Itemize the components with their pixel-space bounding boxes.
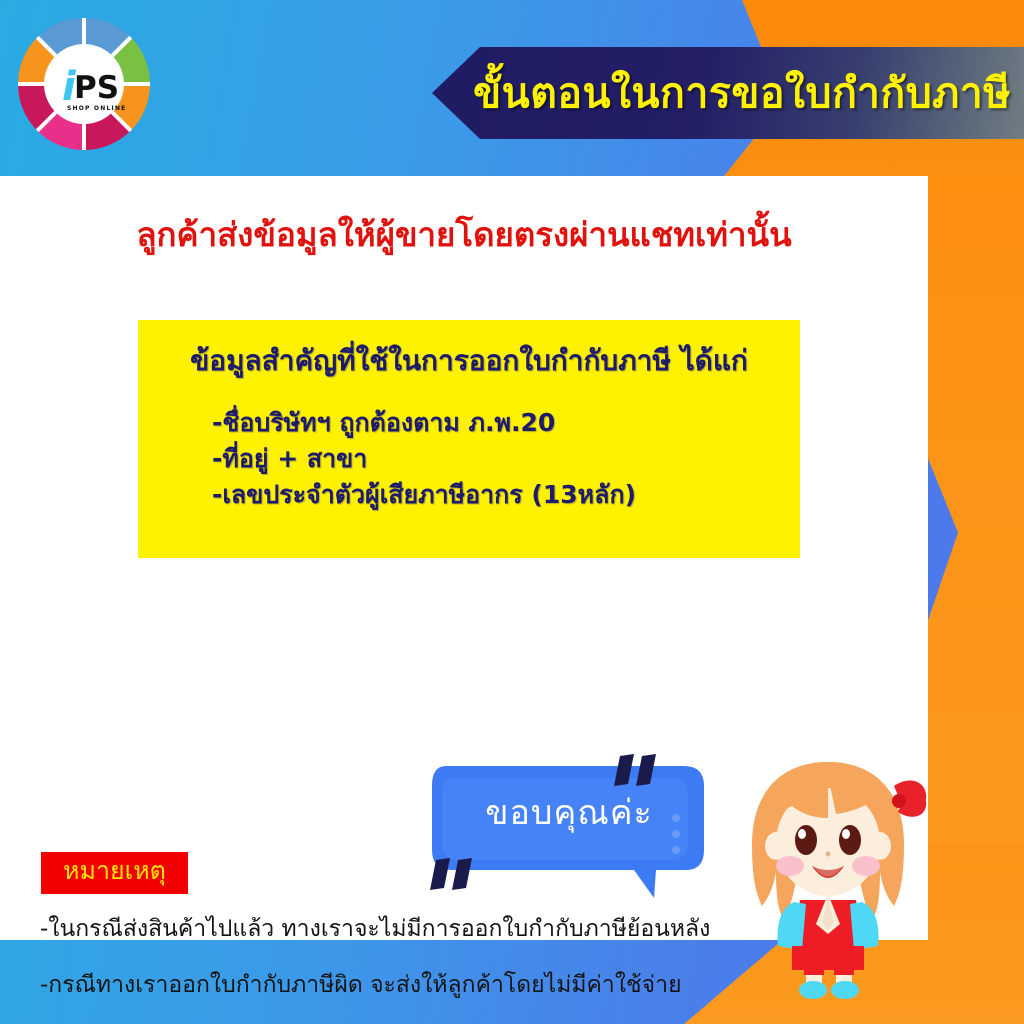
speech-bubble-text: ขอบคุณค่ะ	[424, 796, 714, 830]
page-title: ขั้นตอนในการขอใบกำกับภาษี	[473, 73, 1011, 114]
list-item: -ที่อยู่ + สาขา	[212, 441, 766, 477]
info-box-list: -ชื่อบริษัทฯ ถูกต้องตาม ภ.พ.20 -ที่อยู่ …	[172, 405, 766, 514]
speech-bubble: ขอบคุณค่ะ	[424, 752, 714, 902]
list-item: -เลขประจำตัวผู้เสียภาษีอากร (13หลัก)	[212, 477, 766, 513]
brand-logo: i PS SHOP ONLINE	[14, 14, 154, 154]
note-line: -กรณีทางเราออกใบกำกับภาษีผิด จะส่งให้ลูก…	[40, 974, 900, 997]
note-badge: หมายเหตุ	[41, 852, 188, 894]
svg-text:PS: PS	[74, 70, 119, 106]
header-banner: ขั้นตอนในการขอใบกำกับภาษี	[432, 47, 1024, 139]
svg-text:SHOP ONLINE: SHOP ONLINE	[67, 105, 126, 112]
info-box-title: ข้อมูลสำคัญที่ใช้ในการออกใบกำกับภาษี ได้…	[172, 346, 766, 377]
list-item: -ชื่อบริษัทฯ ถูกต้องตาม ภ.พ.20	[212, 405, 766, 441]
note-line: -ในกรณีส่งสินค้าไปแล้ว ทางเราจะไม่มีการอ…	[40, 918, 900, 941]
wheel-logo-icon: i PS SHOP ONLINE	[14, 14, 154, 154]
notes-list: -ในกรณีส่งสินค้าไปแล้ว ทางเราจะไม่มีการอ…	[40, 918, 900, 1024]
content-card: ลูกค้าส่งข้อมูลให้ผู้ขายโดยตรงผ่านแชทเท่…	[0, 176, 928, 940]
headline-text: ลูกค้าส่งข้อมูลให้ผู้ขายโดยตรงผ่านแชทเท่…	[0, 218, 928, 251]
info-box: ข้อมูลสำคัญที่ใช้ในการออกใบกำกับภาษี ได้…	[138, 320, 800, 558]
poster-root: i PS SHOP ONLINE ขั้นตอนในการขอใบกำกับภา…	[0, 0, 1024, 1024]
